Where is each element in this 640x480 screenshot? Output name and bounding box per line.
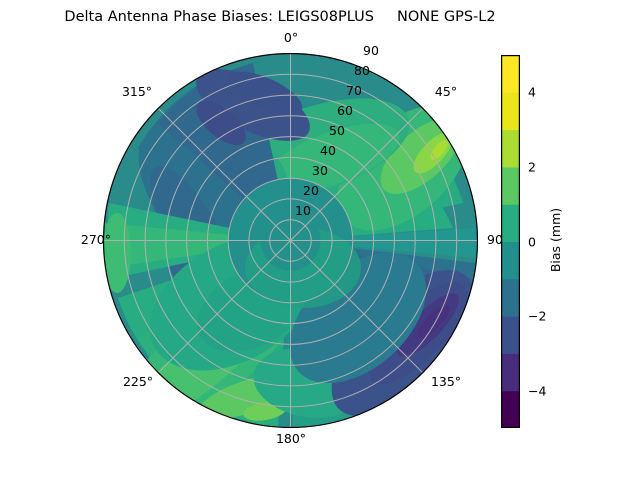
r-tick-60: 60 (333, 104, 357, 118)
theta-tick-45: 45° (423, 85, 469, 99)
colorbar-gradient (501, 55, 520, 428)
matplotlib-figure: Delta Antenna Phase Biases: LEIGS08PLUS … (0, 0, 640, 480)
r-tick-50: 50 (325, 124, 349, 138)
colorbar-tick-0: 0 (528, 235, 536, 248)
r-tick-30: 30 (308, 164, 332, 178)
colorbar-band (501, 279, 520, 317)
theta-tick-180: 180° (262, 432, 320, 446)
colorbar-band (501, 242, 520, 280)
colorbar-band (501, 92, 520, 130)
r-tick-20: 20 (299, 184, 323, 198)
colorbar-band (501, 353, 520, 391)
polar-axes: 0° 45° 90 135° 180° 225° 270° 315° 10 20… (103, 53, 478, 428)
colorbar-band (501, 316, 520, 354)
r-tick-10: 10 (291, 204, 315, 218)
theta-tick-0: 0° (270, 31, 312, 45)
r-tick-80: 80 (350, 64, 374, 78)
theta-tick-135: 135° (419, 375, 473, 389)
colorbar-band (501, 130, 520, 168)
colorbar-band (501, 391, 520, 428)
r-tick-40: 40 (316, 144, 340, 158)
colorbar-band (501, 55, 520, 93)
colorbar-tick-2: 2 (528, 160, 536, 173)
theta-tick-225: 225° (111, 375, 165, 389)
polar-plot-canvas (103, 53, 478, 428)
colorbar-tick-minus2: −2 (528, 310, 546, 323)
polar-grid (104, 54, 478, 428)
colorbar-band (501, 204, 520, 242)
colorbar-band (501, 167, 520, 205)
theta-tick-315: 315° (109, 85, 165, 99)
colorbar-tick-4: 4 (528, 86, 536, 99)
colorbar-tick-minus4: −4 (528, 384, 546, 397)
page-title: Delta Antenna Phase Biases: LEIGS08PLUS … (0, 8, 560, 26)
colorbar[interactable]: 4 2 0 −2 −4 (501, 55, 520, 428)
colorbar-axis-label: Bias (mm) (548, 208, 563, 272)
r-tick-90: 90 (359, 44, 383, 58)
theta-tick-270: 270° (61, 233, 111, 247)
r-tick-70: 70 (342, 84, 366, 98)
